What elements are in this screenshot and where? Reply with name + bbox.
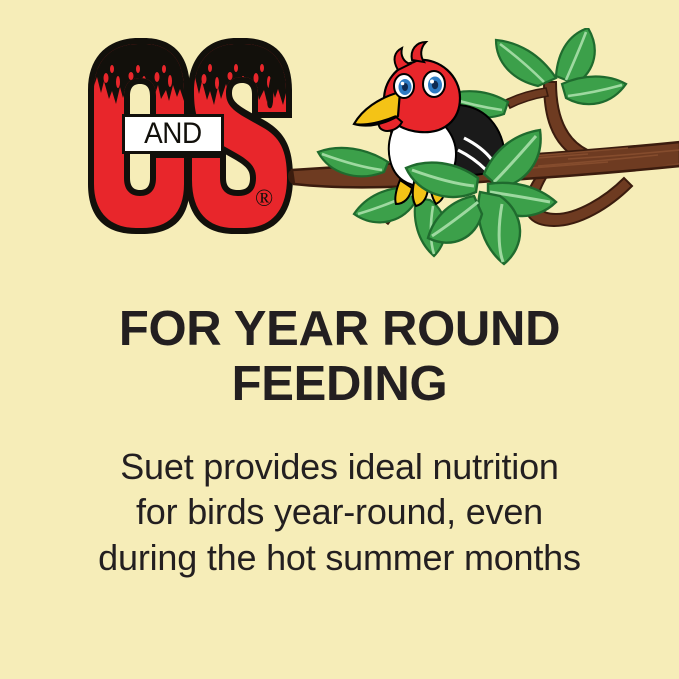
headline-line-2: FEEDING	[0, 357, 679, 412]
logo-and-badge: AND	[122, 114, 224, 154]
headline: FOR YEAR ROUND FEEDING	[0, 302, 679, 413]
woodpecker-illustration-icon	[288, 28, 679, 276]
headline-line-1: FOR YEAR ROUND	[0, 302, 679, 357]
leaf	[556, 28, 595, 84]
bird-eye-left	[394, 74, 414, 98]
leaf	[496, 40, 556, 86]
body-copy-line-3: during the hot summer months	[0, 535, 679, 580]
logo-and-text: AND	[144, 119, 202, 149]
body-copy-line-2: for birds year-round, even	[0, 489, 679, 534]
leaf-cluster-upper-right	[446, 28, 626, 117]
body-copy: Suet provides ideal nutrition for birds …	[0, 444, 679, 580]
bird-eye-right	[423, 71, 445, 97]
registered-trademark-icon: ®	[255, 186, 281, 212]
leaf	[562, 77, 626, 105]
product-feature-poster: AND ®	[0, 0, 679, 679]
body-copy-line-1: Suet provides ideal nutrition	[0, 444, 679, 489]
bird-branch-illustration	[288, 28, 679, 276]
